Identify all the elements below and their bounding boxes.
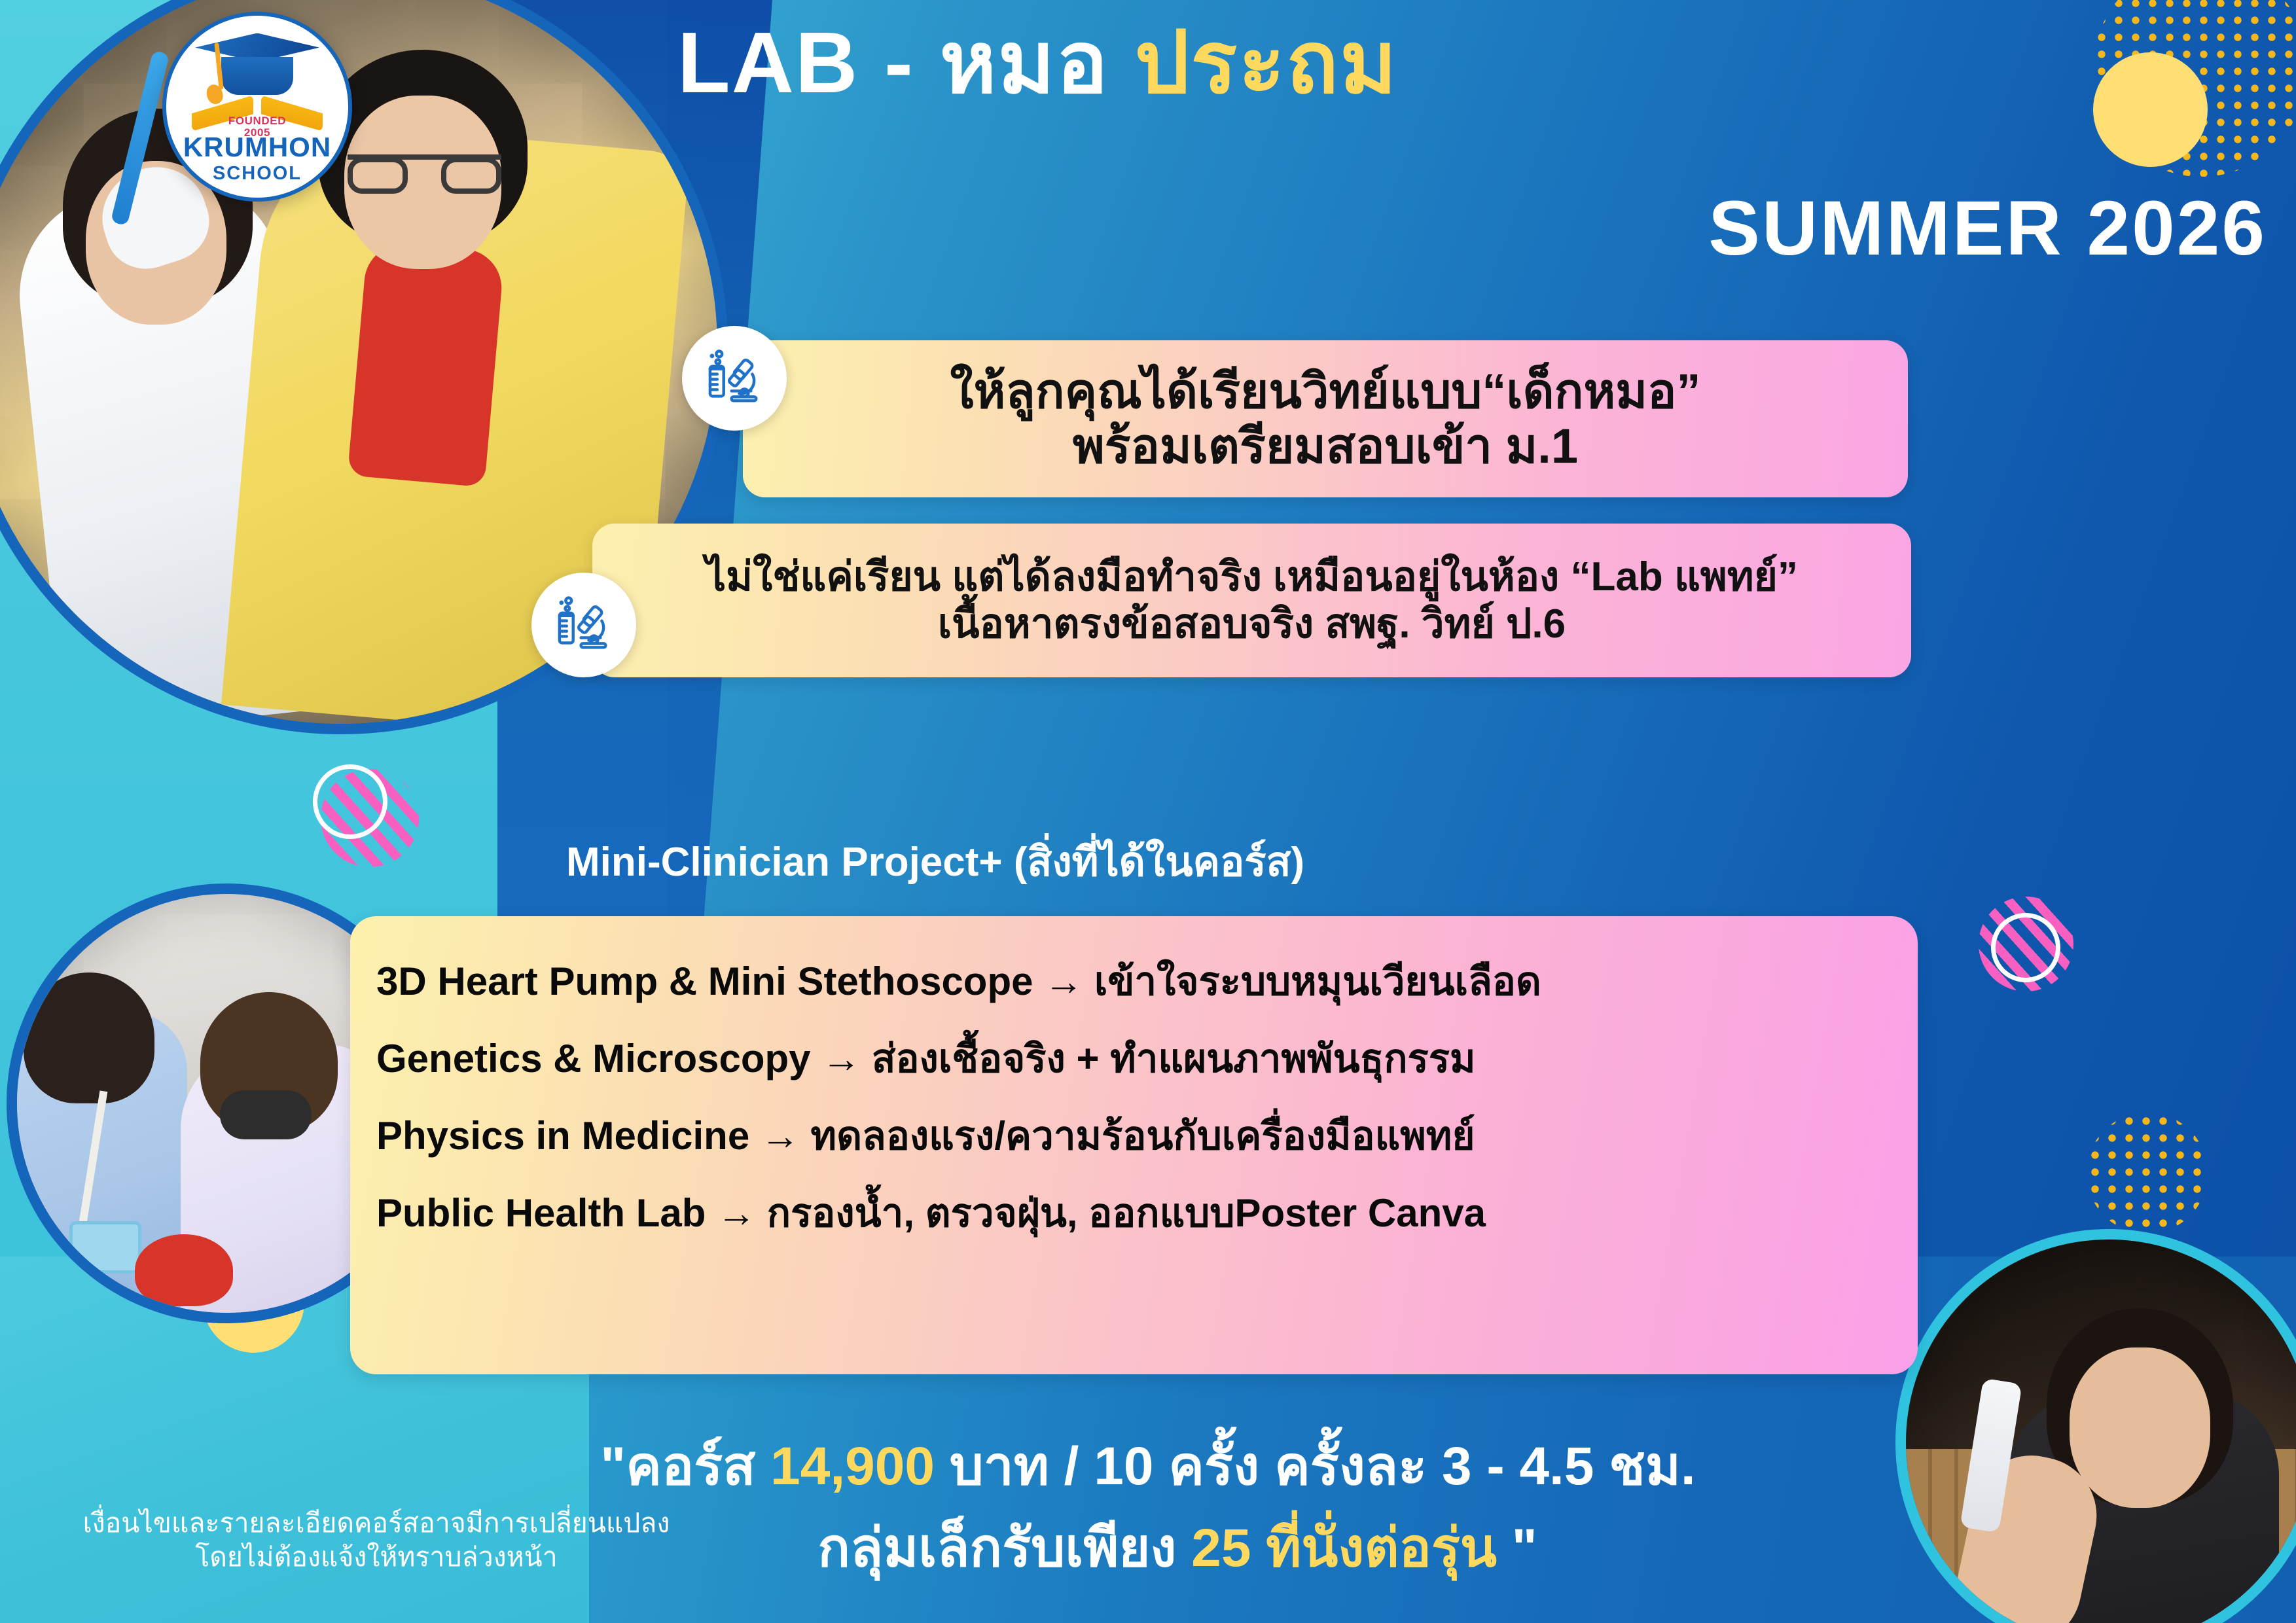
callout-1-line-2: พร้อมเตรียมสอบเข้า ม.1 (1073, 419, 1578, 474)
yellow-circle-top-right-icon (2093, 52, 2208, 167)
logo-school-sub: SCHOOL (213, 163, 302, 185)
price-line-1: "คอร์ส 14,900 บาท / 10 ครั้ง ครั้งละ 3 -… (0, 1423, 2296, 1508)
microscope-testtube-icon (531, 573, 636, 677)
seats-amount: 25 ที่นั่งต่อรุ่น (1191, 1518, 1497, 1578)
feature-item: Genetics & Microscopy → ส่องเชื้อจริง + … (376, 1039, 1918, 1079)
microscope-testtube-icon (682, 326, 787, 431)
logo-founded-text: FOUNDED 2005 (228, 115, 286, 139)
poster-root: FOUNDED 2005 KRUMHON SCHOOL LAB - หมอ ปร… (0, 0, 2296, 1623)
page-title: LAB - หมอ ประถม (677, 20, 1398, 106)
dot-pattern-right-icon (2087, 1113, 2208, 1234)
price-2-suffix: " (1497, 1518, 1537, 1578)
callout-1-line-1: ให้ลูกคุณได้เรียนวิทย์แบบ“เด็กหมอ” (950, 364, 1701, 419)
price-amount: 14,900 (770, 1436, 935, 1496)
price-1-suffix: บาท / 10 ครั้ง ครั้งละ 3 - 4.5 ชม. (935, 1436, 1696, 1496)
feature-item: 3D Heart Pump & Mini Stethoscope → เข้าใ… (376, 962, 1918, 1001)
callout-bubble-1: ให้ลูกคุณได้เรียนวิทย์แบบ“เด็กหมอ” พร้อม… (743, 340, 1908, 497)
features-panel: 3D Heart Pump & Mini Stethoscope → เข้าใ… (350, 916, 1918, 1374)
white-ring-bottom-right-icon (1991, 913, 2060, 982)
logo-founded-year: 2005 (244, 126, 270, 139)
callout-bubble-2: ไม่ใช่แค่เรียน แต่ได้ลงมือทำจริง เหมือนอ… (592, 524, 1911, 677)
page-subtitle: SUMMER 2026 (1708, 190, 2267, 267)
page-title-main: LAB - หมอ (677, 14, 1135, 111)
school-logo: FOUNDED 2005 KRUMHON SCHOOL (162, 12, 352, 202)
feature-item: Public Health Lab → กรองน้ำ, ตรวจฝุ่น, อ… (376, 1194, 1918, 1233)
price-1-prefix: "คอร์ส (600, 1436, 770, 1496)
price-2-prefix: กลุ่มเล็กรับเพียง (817, 1518, 1191, 1578)
callout-2-line-1: ไม่ใช่แค่เรียน แต่ได้ลงมือทำจริง เหมือนอ… (706, 554, 1798, 601)
graduation-cap-icon (195, 33, 319, 96)
page-title-highlight: ประถม (1135, 14, 1399, 111)
disclaimer-text: เงื่อนไขและรายละเอียดคอร์สอาจมีการเปลี่ย… (62, 1507, 691, 1574)
callout-2-line-2: เนื้อหาตรงข้อสอบจริง สพฐ. วิทย์ ป.6 (938, 601, 1566, 648)
logo-founded-label: FOUNDED (228, 115, 286, 127)
pink-striped-circle-bottom-right-icon (1979, 897, 2073, 991)
dot-pattern-top-right-icon (2093, 0, 2296, 177)
section-heading: Mini-Clinician Project+ (สิ่งที่ได้ในคอร… (566, 830, 1304, 894)
feature-item: Physics in Medicine → ทดลองแรง/ความร้อนก… (376, 1116, 1918, 1156)
